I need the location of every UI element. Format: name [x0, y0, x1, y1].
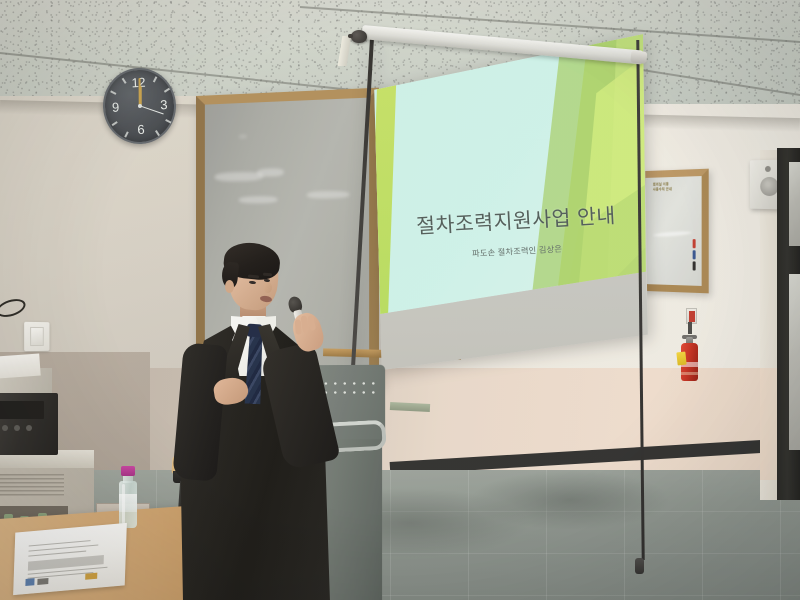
clock-minute-hand	[138, 78, 140, 106]
light-switch[interactable]	[24, 322, 49, 351]
presenter-ear	[225, 280, 234, 293]
door-side-column-lower	[760, 368, 778, 480]
clock-tick	[124, 132, 128, 138]
roller-endcap	[630, 50, 647, 63]
light-switch-rocker[interactable]	[30, 327, 44, 346]
clock-tick	[111, 122, 117, 127]
paper-logo	[25, 578, 34, 586]
paper-logo	[37, 578, 48, 585]
amplifier-knob[interactable]	[14, 425, 20, 431]
door-glass-upper	[789, 162, 800, 246]
speaker-cone	[760, 177, 778, 196]
door-glass-lower	[789, 274, 800, 450]
clock-tick	[155, 130, 160, 136]
speaker-tweeter	[765, 166, 771, 172]
bottle-cap[interactable]	[121, 466, 135, 476]
extinguisher-label-band	[681, 372, 698, 375]
clock-tick	[152, 76, 156, 82]
door-frame[interactable]	[777, 148, 800, 500]
presenter-finger	[307, 315, 316, 331]
clock-number-6: 6	[137, 122, 145, 137]
water-bottle[interactable]	[118, 466, 138, 528]
marker-red	[693, 239, 696, 248]
paper-logo	[85, 573, 97, 580]
fire-extinguisher[interactable]	[679, 334, 700, 382]
projection-screen: 절차조력지원사업 안내 파도손 절차조력인 김상은	[372, 32, 650, 372]
cabinet-vent	[0, 474, 64, 496]
clock-number-9: 9	[112, 100, 120, 115]
bottle-highlight	[122, 484, 125, 524]
presenter	[176, 238, 346, 600]
handout-papers[interactable]	[13, 523, 127, 595]
clock-tick	[110, 91, 116, 95]
screen-surface: 절차조력지원사업 안내 파도손 절차조력인 김상은	[372, 32, 650, 372]
wall-speaker	[750, 160, 781, 210]
board-glare	[215, 172, 263, 182]
amplifier-knob[interactable]	[2, 425, 8, 431]
clock-center-pin	[137, 104, 141, 108]
board-glare	[653, 231, 692, 238]
board-glare	[307, 191, 350, 199]
ceiling-camera-icon	[351, 30, 367, 43]
photo-scene: 12 3 6 9 회의실 이용 사용수칙 안내	[0, 0, 800, 600]
amplifier-front-panel	[0, 401, 44, 419]
board-glare	[239, 134, 247, 138]
clock-tick	[121, 78, 126, 84]
clock-tick	[163, 88, 169, 93]
board-notice-text: 회의실 이용 사용수칙 안내	[653, 182, 672, 192]
clock-tick	[165, 119, 171, 123]
fire-alarm-label	[689, 311, 695, 322]
paper-stack	[0, 354, 41, 379]
extinguisher-bracket	[688, 322, 692, 334]
screen-cord-weight[interactable]	[635, 558, 644, 574]
marker-blue	[693, 250, 696, 259]
bottle-neck	[123, 475, 133, 483]
amplifier-knob[interactable]	[26, 425, 32, 431]
audio-amplifier[interactable]	[0, 393, 58, 455]
board-glare	[239, 196, 278, 204]
extinguisher-inspection-tag	[676, 352, 686, 366]
presenter-nose	[264, 282, 272, 293]
presenter-eyebrow	[263, 273, 272, 276]
slide-left-green-band	[372, 80, 397, 325]
marker-black	[693, 261, 696, 270]
board-glare	[257, 168, 284, 177]
paper-text-line	[28, 551, 86, 557]
clock-number-3: 3	[160, 97, 168, 112]
